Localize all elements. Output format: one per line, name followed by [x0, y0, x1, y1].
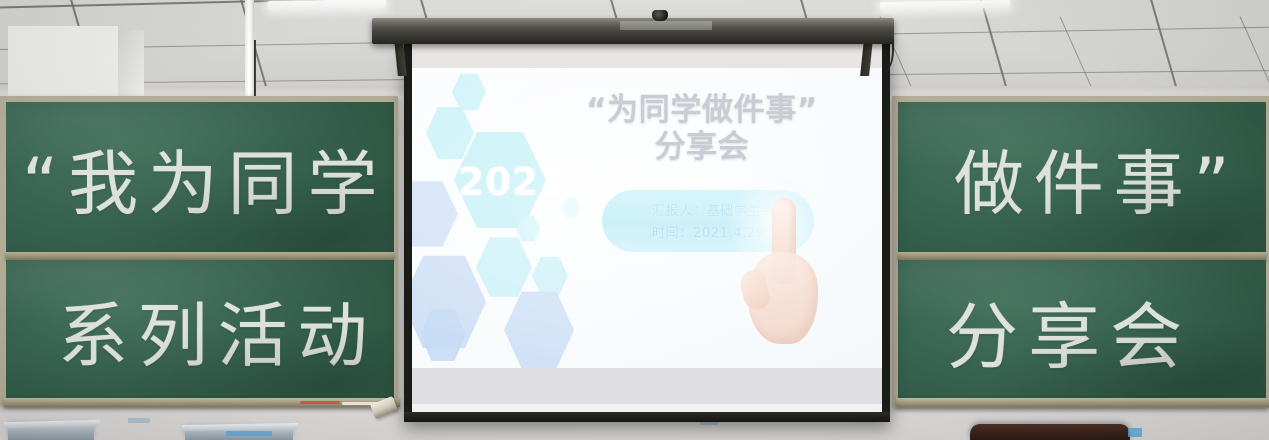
slide-title: “为同学做件事” 分享会: [532, 92, 872, 165]
hexagon-shape: [504, 290, 574, 370]
hexagon-shape: [452, 73, 486, 111]
hexagon-shape: [412, 180, 458, 248]
wall-corner: [118, 30, 144, 100]
housing-knob-icon[interactable]: [652, 10, 668, 21]
blackboard-text-left-top: “我为同学: [22, 128, 387, 229]
slide-title-line-2: 分享会: [532, 129, 872, 166]
blackboard-right-bottom-panel: 分享会: [898, 260, 1266, 398]
presentation-slide[interactable]: 2021 “为同学做件事” 分享会 汇报人：基础学生会 时间：2021.4.29: [412, 68, 882, 378]
blackboard-right-tray: [896, 398, 1269, 407]
wall-panel-left: [8, 26, 118, 100]
screen-bottom-margin: [412, 368, 882, 404]
screen-weight-bar[interactable]: [404, 412, 890, 422]
blackboard-text-right-top: 做件事”: [954, 128, 1239, 229]
wall-tape-mark-left: [128, 418, 150, 423]
blackboard-right-divider: [898, 252, 1266, 260]
desk-center-marking: [226, 431, 272, 436]
blackboard-left-divider: [6, 252, 394, 260]
hexagon-shape: [426, 106, 474, 160]
screen-top-margin: [412, 42, 882, 68]
hexagon-shape: [476, 236, 532, 298]
projector-screen-housing[interactable]: [372, 18, 894, 44]
housing-slot: [620, 21, 712, 30]
slide-title-line-1: “为同学做件事”: [586, 92, 818, 128]
hexagon-shape: [532, 256, 568, 296]
blackboard-left-top-panel: “我为同学: [6, 102, 394, 252]
slide-year-label: 2021: [458, 160, 565, 204]
blackboard-left-tray: [4, 398, 400, 407]
chalk-piece-red: [300, 401, 340, 404]
blackboard-left-bottom-panel: 系列活动: [6, 260, 394, 398]
chair-tag: [1128, 428, 1142, 437]
pointing-hand-graphic: [742, 196, 826, 346]
ceiling-pole: [245, 0, 254, 104]
blackboard-text-right-bottom: 分享会: [946, 278, 1192, 383]
classroom-scene: “我为同学 系列活动 做件事” 分享会 2021 “为同学做件事”: [0, 0, 1269, 440]
blackboard-text-left-bottom: 系列活动: [58, 280, 377, 381]
chair-foreground[interactable]: [970, 424, 1130, 440]
blackboard-right-top-panel: 做件事”: [898, 102, 1266, 252]
projector-screen[interactable]: 2021 “为同学做件事” 分享会 汇报人：基础学生会 时间：2021.4.29: [404, 40, 890, 422]
projector-screen-surface: 2021 “为同学做件事” 分享会 汇报人：基础学生会 时间：2021.4.29: [412, 42, 882, 414]
